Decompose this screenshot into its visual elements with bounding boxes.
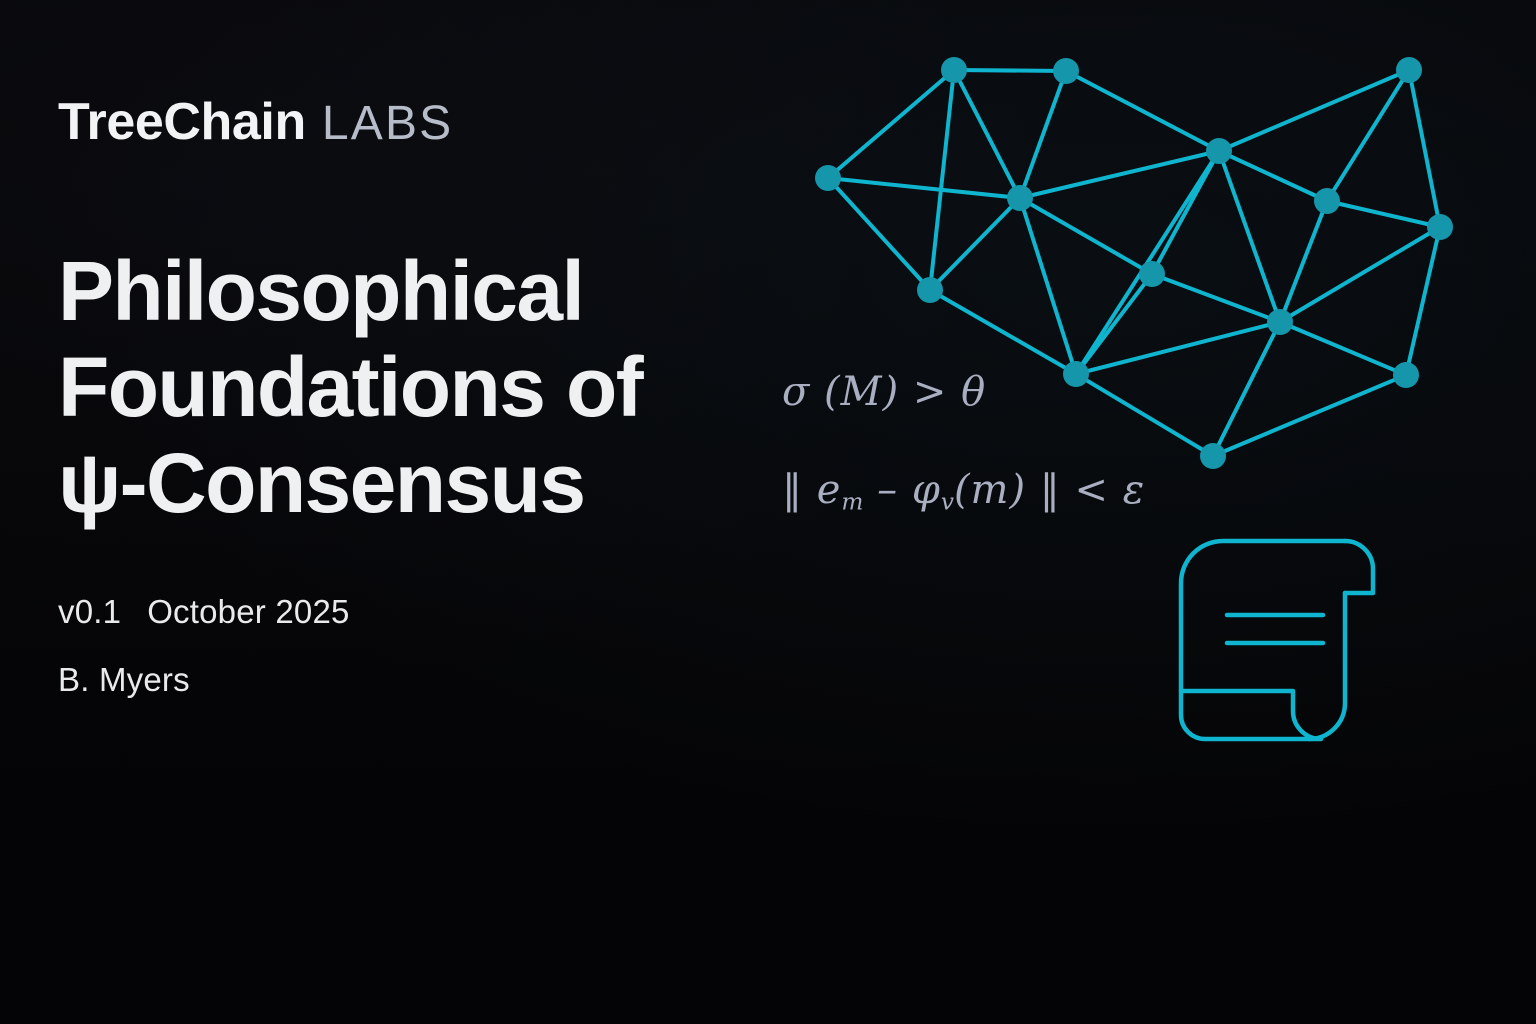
author-label: B. Myers: [58, 660, 190, 700]
formula-block: σ (M) > θ ‖ em – φv(m) ‖ < ε: [782, 372, 1252, 514]
title-slide: TreeChainLABS Philosophical Foundations …: [0, 0, 1536, 1024]
graph-edge: [1020, 71, 1066, 198]
graph-edge: [1406, 227, 1440, 375]
formula-norm-mid: – φ: [863, 467, 940, 513]
graph-node: [1206, 138, 1232, 164]
brand-name: TreeChain: [58, 93, 306, 151]
scroll-icon: [1165, 525, 1405, 755]
formula-norm-prefix: ‖ e: [782, 467, 841, 513]
graph-edge: [1020, 151, 1219, 198]
scroll-bottom-curl: [1181, 691, 1321, 739]
graph-edge: [954, 70, 1066, 71]
graph-edge: [1409, 70, 1440, 227]
formula-sigma: σ (M) > θ: [782, 372, 1252, 412]
graph-node: [1396, 57, 1422, 83]
graph-node: [1139, 261, 1165, 287]
date-label: October 2025: [147, 593, 349, 630]
text-column: TreeChainLABS Philosophical Foundations …: [58, 0, 758, 1024]
graph-edge: [954, 70, 1020, 198]
graph-edge: [828, 70, 954, 178]
graph-node: [1314, 188, 1340, 214]
title-line-3: ψ-Consensus: [58, 435, 738, 531]
document-meta: v0.1October 2025: [58, 592, 350, 632]
graphic-column: σ (M) > θ ‖ em – φv(m) ‖ < ε: [760, 0, 1536, 1024]
graph-node: [1267, 309, 1293, 335]
formula-norm: ‖ em – φv(m) ‖ < ε: [782, 470, 1252, 514]
graph-edge: [828, 178, 930, 290]
graph-edge: [1066, 71, 1219, 151]
graph-edge: [930, 70, 954, 290]
brand-suffix: LABS: [322, 97, 454, 150]
graph-node: [1427, 214, 1453, 240]
formula-norm-sub-m: m: [841, 488, 863, 515]
graph-node: [941, 57, 967, 83]
graph-edge: [1327, 201, 1440, 227]
graph-edge: [1280, 227, 1440, 322]
version-label: v0.1: [58, 593, 121, 630]
graph-node: [1007, 185, 1033, 211]
brand-wordmark: TreeChainLABS: [58, 96, 453, 148]
formula-norm-sub-v: v: [941, 488, 954, 515]
graph-node: [917, 277, 943, 303]
scroll-top-curl: [1345, 541, 1373, 593]
graph-node: [1053, 58, 1079, 84]
graph-edge: [828, 178, 1020, 198]
graph-edge: [1280, 201, 1327, 322]
graph-edge: [1219, 70, 1409, 151]
graph-edge: [1152, 274, 1280, 322]
graph-edge: [1280, 322, 1406, 375]
title-line-1: Philosophical: [58, 243, 738, 339]
graph-node: [1393, 362, 1419, 388]
graph-edge: [930, 198, 1020, 290]
formula-norm-suffix: (m) ‖ < ε: [954, 467, 1145, 513]
page-title: Philosophical Foundations of ψ-Consensus: [58, 243, 738, 531]
title-line-2: Foundations of: [58, 339, 738, 435]
graph-node: [815, 165, 841, 191]
